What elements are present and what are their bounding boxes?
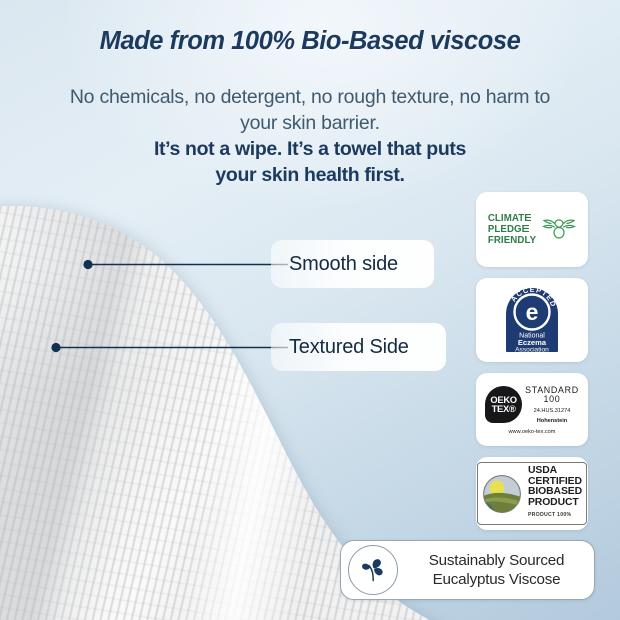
subheadline: No chemicals, no detergent, no rough tex… xyxy=(56,84,564,188)
oeko-mark-line-2: TEX® xyxy=(492,404,516,414)
subheadline-line-4: your skin health first. xyxy=(56,162,564,188)
subheadline-line-3: It’s not a wipe. It’s a towel that puts xyxy=(56,136,564,162)
cpf-line-3: FRIENDLY xyxy=(488,235,536,246)
badge-usda-certified-biobased: USDA CERTIFIED BIOBASED PRODUCT PRODUCT … xyxy=(476,457,588,530)
oeko-standard-number: 100 xyxy=(525,395,579,405)
oeko-tex-icon: OEKO TEX® xyxy=(485,386,522,423)
cpf-bars-icon xyxy=(526,214,531,222)
usda-wordmark: USDA CERTIFIED BIOBASED PRODUCT PRODUCT … xyxy=(528,466,582,520)
pill-line-2: Eucalyptus Viscose xyxy=(433,571,561,588)
leaf-sprout-icon-wrapper xyxy=(348,545,398,595)
usda-line-4: PRODUCT xyxy=(528,498,582,509)
climate-pledge-friendly-wordmark: CLIMATE PLEDGE FRIENDLY xyxy=(488,213,536,247)
nea-seal-icon: e ACCEPTED National Eczema Association xyxy=(503,286,561,354)
cpf-line-1: CLIMATE xyxy=(488,213,531,224)
badge-oeko-tex: OEKO TEX® STANDARD 100 24.HUS.31274 Hohe… xyxy=(476,373,588,446)
callout-smooth-side-label: Smooth side xyxy=(289,253,398,276)
oeko-certificate-number: 24.HUS.31274 xyxy=(525,407,579,417)
winged-hourglass-icon xyxy=(542,214,576,244)
usda-sub-label: PRODUCT 100% xyxy=(528,510,582,521)
cpf-line-2: PLEDGE xyxy=(488,224,528,235)
callout-textured-side: Textured Side xyxy=(271,323,446,371)
badge-national-eczema-association: e ACCEPTED National Eczema Association xyxy=(476,278,588,362)
nea-line-3: Association xyxy=(515,347,549,354)
certification-badge-list: CLIMATE PLEDGE FRIENDLY xyxy=(476,192,588,541)
pill-line-1: Sustainably Sourced xyxy=(429,552,565,569)
callout-smooth-side: Smooth side xyxy=(271,240,434,288)
badge-climate-pledge-friendly: CLIMATE PLEDGE FRIENDLY xyxy=(476,192,588,267)
leaf-sprout-icon xyxy=(358,555,388,585)
oeko-institute: Hohenstein xyxy=(525,417,579,427)
cpf-bars-icon xyxy=(524,225,529,233)
svg-text:e: e xyxy=(526,299,539,325)
page-title: Made from 100% Bio-Based viscose xyxy=(0,27,620,56)
oeko-url: www.oeko-tex.com xyxy=(485,429,579,435)
subheadline-line-1: No chemicals, no detergent, no rough xyxy=(70,86,386,108)
usda-biobased-icon xyxy=(481,474,525,514)
sustainably-sourced-label: Sustainably Sourced Eucalyptus Viscose xyxy=(407,551,594,589)
promo-graphic: Made from 100% Bio-Based viscose No chem… xyxy=(0,0,620,620)
callout-textured-side-label: Textured Side xyxy=(289,336,409,359)
sustainably-sourced-pill: Sustainably Sourced Eucalyptus Viscose xyxy=(340,540,595,600)
